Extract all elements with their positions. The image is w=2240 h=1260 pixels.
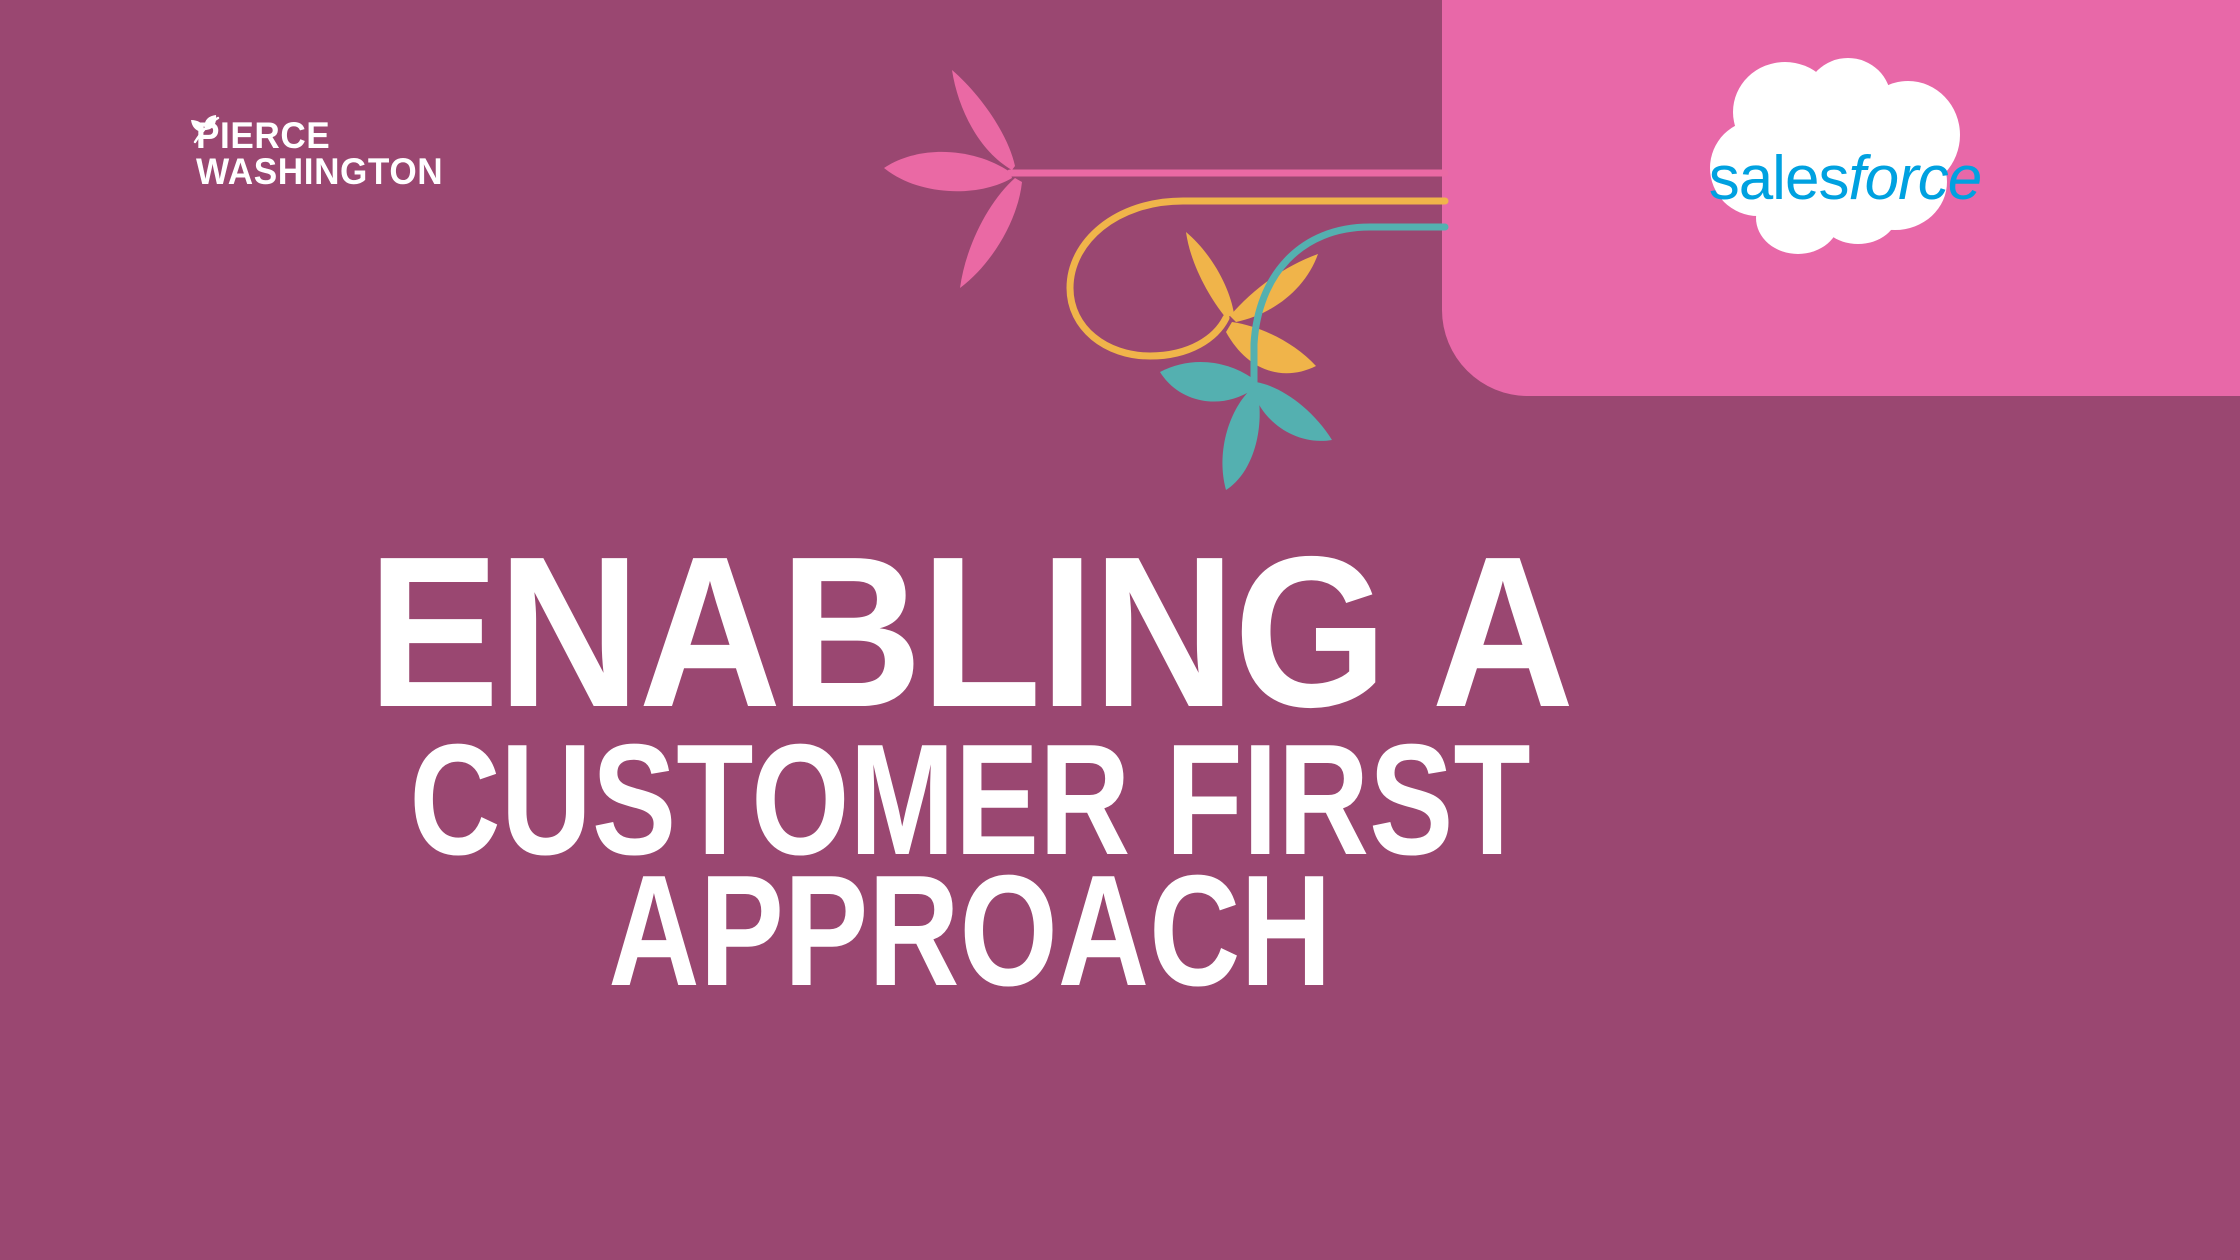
pink-vine-branch (884, 70, 1445, 288)
salesforce-wordmark-force: force (1848, 144, 1981, 213)
slide-canvas: salesforce (0, 0, 2240, 1260)
vine-decoration (860, 60, 1460, 460)
salesforce-wordmark-sales: sales (1709, 144, 1849, 213)
logo-line-pierce: PIERCE (196, 118, 443, 154)
pierce-washington-logo: PIERCE WASHINGTON (196, 118, 456, 191)
logo-line-washington: WASHINGTON (196, 154, 443, 190)
headline-block: ENABLING A CUSTOMER FIRST APPROACH (0, 540, 1940, 1001)
headline-line-1: ENABLING A (78, 540, 1863, 725)
headline-line-3: APPROACH (194, 862, 1746, 1001)
salesforce-wordmark: salesforce (1700, 148, 1990, 210)
